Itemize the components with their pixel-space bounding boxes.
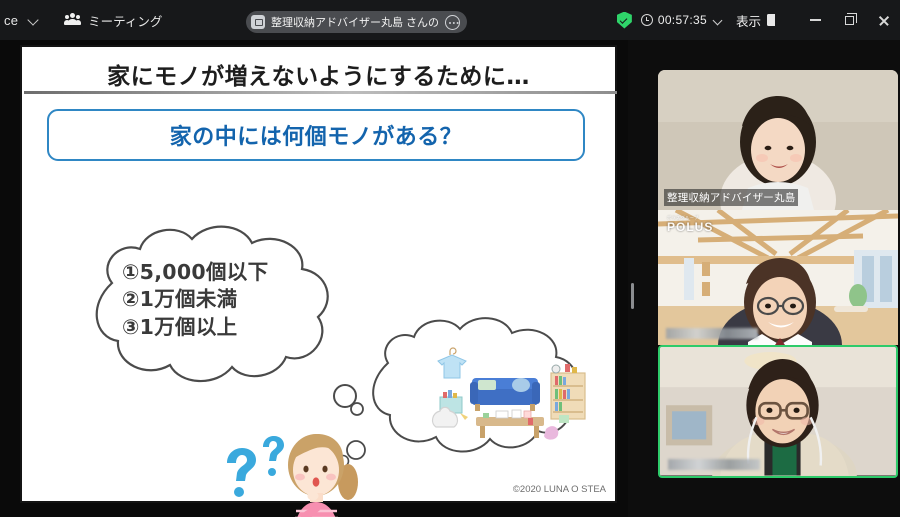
- titlebar-right-group: 00:57:35 表示: [617, 0, 900, 40]
- presentation-slide: 家にモノが増えないようにするために… 家の中には何個モノがある？ ①5,000個…: [20, 45, 617, 503]
- participant-tile[interactable]: 整理収納アドバイザー丸島: [658, 70, 898, 210]
- room-items-illustration: [420, 345, 595, 450]
- meeting-window: ce ミーティング 整理収納アドバイザー丸島 さんの 00:57:35 表示: [0, 0, 900, 517]
- thinking-girl-icon: [272, 427, 368, 517]
- list-item: ③1万個以上: [122, 314, 382, 341]
- participant-video-rail: 整理収納アドバイザー丸島: [636, 40, 900, 517]
- chevron-down-icon[interactable]: [28, 14, 40, 26]
- panel-divider[interactable]: [628, 40, 636, 517]
- list-item: ①5,000個以下: [122, 259, 382, 286]
- titlebar-left-group: ce ミーティング: [0, 11, 162, 30]
- title-bar: ce ミーティング 整理収納アドバイザー丸島 さんの 00:57:35 表示: [0, 0, 900, 40]
- page-title: 家にモノが増えないようにするために…: [22, 57, 615, 91]
- clock-icon: [641, 14, 653, 26]
- view-button-label: 表示: [736, 11, 761, 30]
- participant-tile[interactable]: ポラスグループ POLUS: [658, 210, 898, 345]
- blurred-label: [668, 459, 760, 470]
- title-divider: [24, 91, 617, 94]
- screen-share-label: 整理収納アドバイザー丸島 さんの: [271, 14, 439, 30]
- more-options-icon[interactable]: [445, 15, 460, 30]
- app-name-label: ce: [4, 13, 18, 28]
- view-button[interactable]: 表示: [736, 11, 780, 30]
- chevron-down-icon[interactable]: [713, 15, 724, 26]
- people-icon: [64, 13, 81, 27]
- question-text: 家の中には何個モノがある？: [170, 119, 463, 151]
- meeting-timer: 00:57:35: [658, 13, 707, 27]
- blurred-label: [666, 328, 758, 339]
- copyright-text: ©2020 LUNA O STEA: [513, 484, 606, 495]
- list-item: ②1万個未満: [122, 286, 382, 313]
- question-box: 家の中には何個モノがある？: [47, 109, 585, 161]
- shield-check-icon[interactable]: [617, 12, 632, 29]
- screen-share-banner[interactable]: 整理収納アドバイザー丸島 さんの: [246, 11, 467, 33]
- polus-watermark-text: POLUS: [667, 220, 713, 234]
- answer-options-list: ①5,000個以下 ②1万個未満 ③1万個以上: [122, 259, 382, 341]
- participant-name-tag: 整理収納アドバイザー丸島: [664, 189, 798, 206]
- meeting-menu[interactable]: ミーティング: [64, 11, 162, 30]
- shared-screen-stage[interactable]: 家にモノが増えないようにするために… 家の中には何個モノがある？ ①5,000個…: [0, 40, 630, 517]
- polus-watermark: ポラスグループ POLUS: [667, 216, 713, 234]
- video-feed: [660, 347, 896, 476]
- screen-share-icon: [251, 15, 265, 29]
- restore-down-button[interactable]: [832, 0, 866, 40]
- close-button[interactable]: [866, 0, 900, 40]
- layout-icon: [767, 14, 780, 26]
- participant-tile-active[interactable]: [658, 345, 898, 478]
- minimize-button[interactable]: [798, 0, 832, 40]
- drag-handle-icon[interactable]: [631, 283, 634, 309]
- meeting-label: ミーティング: [88, 11, 162, 30]
